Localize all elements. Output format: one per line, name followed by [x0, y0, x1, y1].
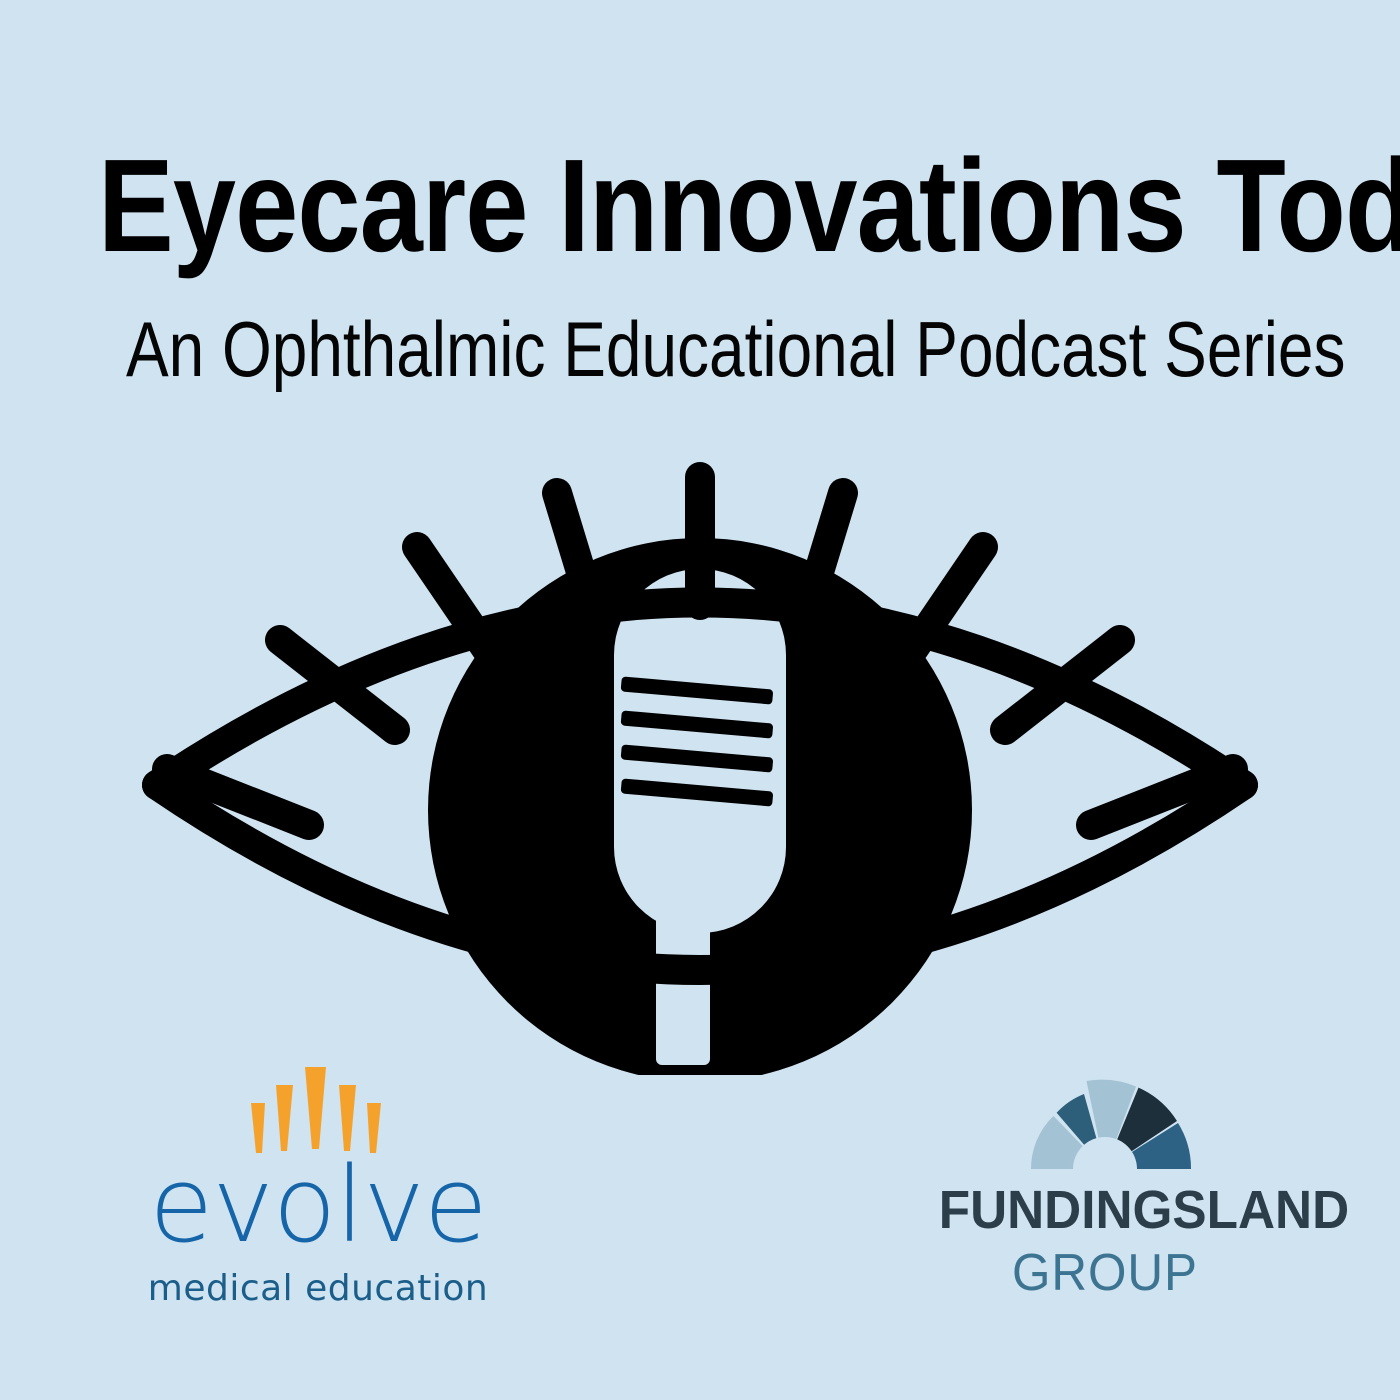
sponsor-logos-row: evolve medical education — [0, 1065, 1400, 1295]
evolve-wordmark: evolve — [138, 1153, 498, 1257]
podcast-cover-art: Eyecare Innovations Today An Ophthalmic … — [0, 0, 1400, 1400]
iris-pupil — [428, 538, 972, 1075]
fundingsland-fan-icon — [1005, 1069, 1205, 1173]
page-title: Eyecare Innovations Today — [98, 140, 1302, 272]
page-subtitle: An Ophthalmic Educational Podcast Series — [126, 310, 1274, 388]
fundingsland-group-label: GROUP — [939, 1247, 1272, 1299]
evolve-logo: evolve medical education — [138, 1065, 498, 1307]
eye-artwork-svg — [95, 455, 1305, 1075]
fundingsland-logo: FUNDINGSLAND GROUP — [930, 1069, 1280, 1299]
title-block: Eyecare Innovations Today An Ophthalmic … — [0, 140, 1400, 388]
eye-with-microphone-icon — [95, 455, 1305, 1075]
fundingsland-name: FUNDINGSLAND — [939, 1183, 1272, 1237]
evolve-tagline: medical education — [138, 1271, 498, 1307]
